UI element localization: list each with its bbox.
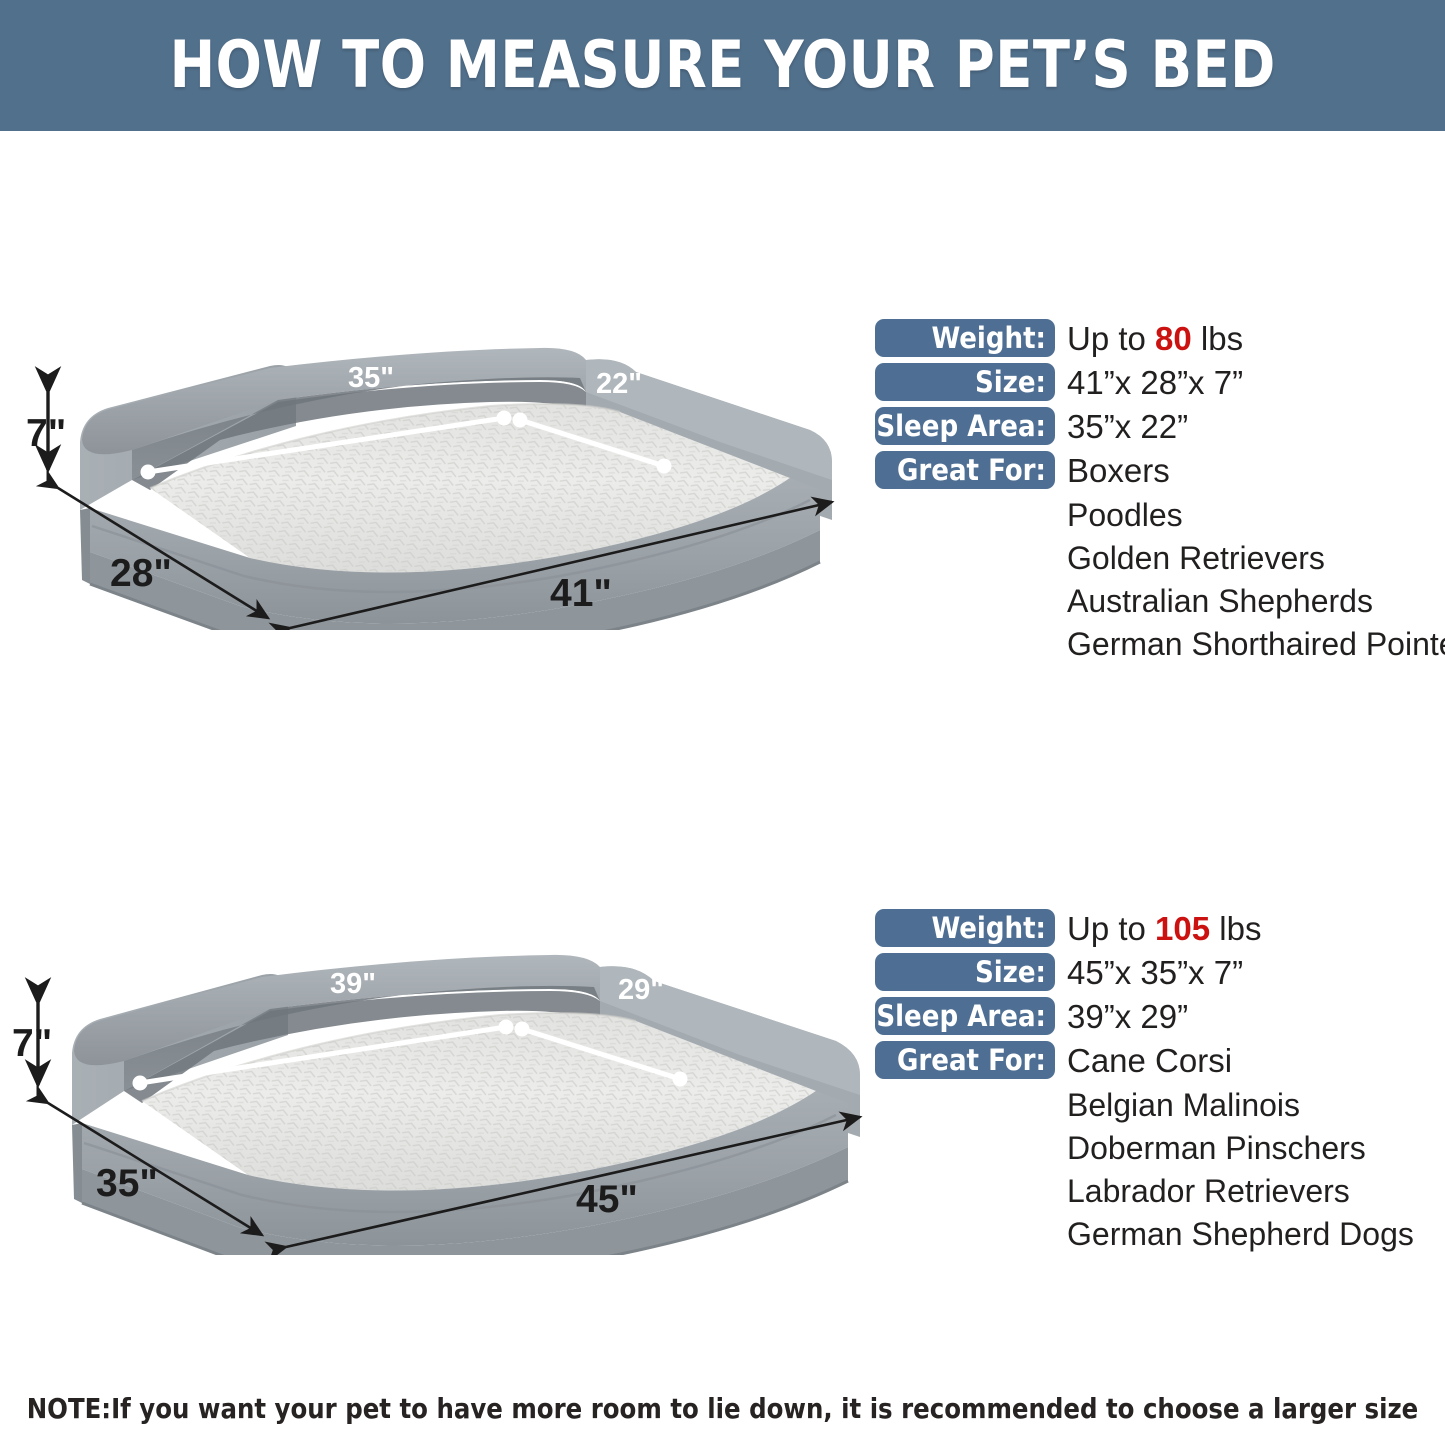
spec-value-size: 45”x 35”x 7” [1067,956,1243,989]
bed-xlarge-sleep-width-label: 29" [618,974,664,1007]
spec-label-text: Sleep Area: [876,412,1046,441]
spec-value-sleep-area: 35”x 22” [1067,410,1188,443]
spec-label-text: Great For: [897,456,1046,485]
bed-large-width-label: 41" [550,572,612,616]
bed-illustration-xlarge [10,935,910,1255]
spec-label-text: Sleep Area: [876,1002,1046,1031]
spec-label-text: Weight: [931,324,1046,353]
spec-row-weight: Weight: Up to 80 lbs [875,318,1445,358]
spec-label-pill-size: Size: [875,953,1055,991]
bed-large-height-label: 7" [26,412,66,456]
weight-suffix: lbs [1192,320,1243,357]
spec-value-sleep-area: 39”x 29” [1067,1000,1188,1033]
spec-block-xlarge: Weight: Up to 105 lbs Size: 45”x 35”x 7”… [875,908,1414,1256]
spec-value-breed-first: Boxers [1067,454,1170,487]
page-title: HOW TO MEASURE YOUR PET’S BED [169,28,1275,103]
bed-xlarge-sleep-length-label: 39" [330,968,376,1001]
spec-label-pill-sleep-area: Sleep Area: [875,997,1055,1035]
weight-prefix: Up to [1067,320,1155,357]
bed-xlarge-depth-label: 35" [96,1162,158,1206]
breed-item: Australian Shepherds [1067,580,1445,623]
spec-label-pill-great-for: Great For: [875,451,1055,489]
footer-note: NOTE:If you want your pet to have more r… [22,1392,1424,1425]
spec-label-text: Great For: [897,1046,1046,1075]
spec-row-weight: Weight: Up to 105 lbs [875,908,1414,948]
breed-item: German Shorthaired Pointers [1067,623,1445,666]
spec-row-great-for: Great For: Boxers [875,450,1445,490]
weight-number: 80 [1155,320,1192,357]
spec-row-size: Size: 41”x 28”x 7” [875,362,1445,402]
spec-label-text: Size: [975,368,1046,397]
breed-item: Doberman Pinschers [1067,1127,1414,1170]
breed-item: Labrador Retrievers [1067,1170,1414,1213]
bed-large-sleep-width-label: 22" [596,368,642,401]
spec-row-size: Size: 45”x 35”x 7” [875,952,1414,992]
spec-value-weight: Up to 105 lbs [1067,912,1261,945]
spec-label-text: Weight: [931,914,1046,943]
weight-number: 105 [1155,910,1210,947]
breed-list-large: Poodles Golden Retrievers Australian She… [1067,494,1445,666]
weight-prefix: Up to [1067,910,1155,947]
bed-large-depth-label: 28" [110,552,172,596]
spec-block-large: Weight: Up to 80 lbs Size: 41”x 28”x 7” … [875,318,1445,666]
breed-list-xlarge: Belgian Malinois Doberman Pinschers Labr… [1067,1084,1414,1256]
bed-xlarge-width-label: 45" [576,1178,638,1222]
breed-item: German Shepherd Dogs [1067,1213,1414,1256]
spec-row-sleep-area: Sleep Area: 35”x 22” [875,406,1445,446]
spec-label-pill-size: Size: [875,363,1055,401]
breed-item: Belgian Malinois [1067,1084,1414,1127]
weight-suffix: lbs [1210,910,1261,947]
spec-label-pill-sleep-area: Sleep Area: [875,407,1055,445]
spec-label-pill-weight: Weight: [875,909,1055,947]
spec-value-size: 41”x 28”x 7” [1067,366,1243,399]
bed-xlarge-height-label: 7" [12,1022,52,1066]
spec-value-weight: Up to 80 lbs [1067,322,1243,355]
bed-large-sleep-length-label: 35" [348,362,394,395]
breed-item: Golden Retrievers [1067,537,1445,580]
spec-value-breed-first: Cane Corsi [1067,1044,1232,1077]
spec-row-sleep-area: Sleep Area: 39”x 29” [875,996,1414,1036]
breed-item: Poodles [1067,494,1445,537]
spec-label-pill-weight: Weight: [875,319,1055,357]
spec-label-text: Size: [975,958,1046,987]
header-banner: HOW TO MEASURE YOUR PET’S BED [0,0,1445,131]
spec-row-great-for: Great For: Cane Corsi [875,1040,1414,1080]
spec-label-pill-great-for: Great For: [875,1041,1055,1079]
